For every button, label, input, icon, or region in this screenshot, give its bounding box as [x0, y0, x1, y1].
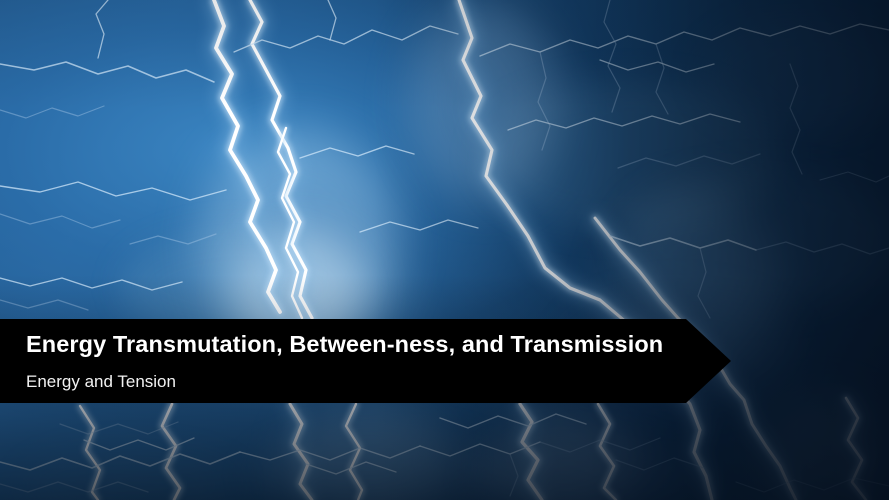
background-photo-lightning-storm: [0, 0, 889, 500]
title-slide: Energy Transmutation, Between-ness, and …: [0, 0, 889, 500]
title-banner-text-group: Energy Transmutation, Between-ness, and …: [0, 319, 686, 403]
page-title: Energy Transmutation, Between-ness, and …: [26, 330, 686, 358]
page-subtitle: Energy and Tension: [26, 371, 686, 393]
sky-vignette: [0, 0, 889, 500]
